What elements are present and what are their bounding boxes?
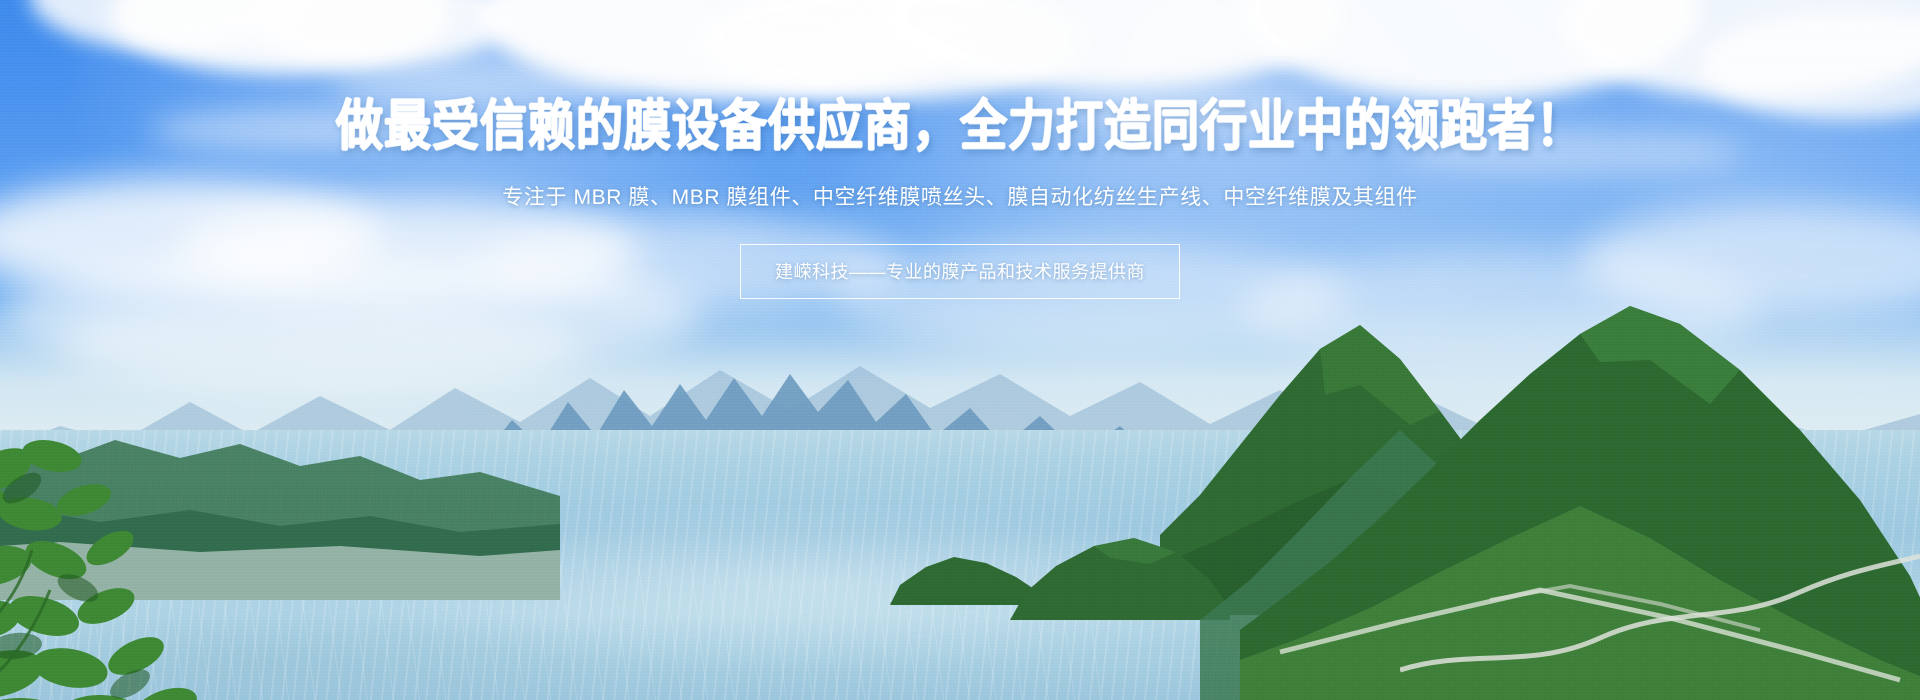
- banner-subtitle: 专注于 MBR 膜、MBR 膜组件、中空纤维膜喷丝头、膜自动化纺丝生产线、中空纤…: [502, 181, 1417, 211]
- hero-banner: 做最受信赖的膜设备供应商，全力打造同行业中的领跑者！ 专注于 MBR 膜、MBR…: [0, 0, 1920, 700]
- banner-text-overlay: 做最受信赖的膜设备供应商，全力打造同行业中的领跑者！ 专注于 MBR 膜、MBR…: [0, 0, 1920, 700]
- banner-headline: 做最受信赖的膜设备供应商，全力打造同行业中的领跑者！: [336, 97, 1584, 155]
- tagline-box: 建嵘科技——专业的膜产品和技术服务提供商: [740, 244, 1180, 299]
- tagline-text: 建嵘科技——专业的膜产品和技术服务提供商: [775, 262, 1145, 282]
